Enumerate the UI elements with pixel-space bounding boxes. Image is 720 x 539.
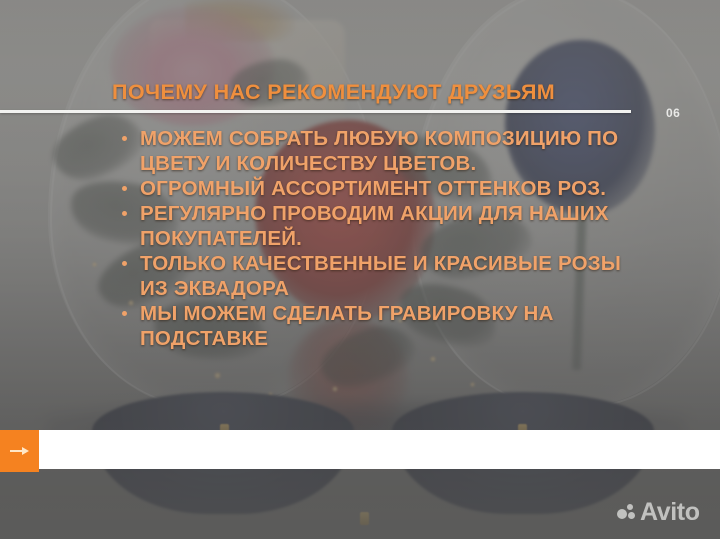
presentation-slide: ПОЧЕМУ НАС РЕКОМЕНДУЮТ ДРУЗЬЯМ 06 МОЖЕМ … — [0, 0, 720, 539]
next-slide-button[interactable] — [0, 430, 39, 472]
benefits-list: МОЖЕМ СОБРАТЬ ЛЮБУЮ КОМПОЗИЦИЮ ПО ЦВЕТУ … — [116, 126, 622, 351]
list-item: МЫ МОЖЕМ СДЕЛАТЬ ГРАВИРОВКУ НА ПОДСТАВКЕ — [116, 301, 622, 351]
list-item: РЕГУЛЯРНО ПРОВОДИМ АКЦИИ ДЛЯ НАШИХ ПОКУП… — [116, 201, 622, 251]
list-item: ОГРОМНЫЙ АССОРТИМЕНТ ОТТЕНКОВ РОЗ. — [116, 176, 622, 201]
list-item: ТОЛЬКО КАЧЕСТВЕННЫЕ И КРАСИВЫЕ РОЗЫ ИЗ Э… — [116, 251, 622, 301]
bottom-white-bar — [38, 430, 720, 469]
list-item: МОЖЕМ СОБРАТЬ ЛЮБУЮ КОМПОЗИЦИЮ ПО ЦВЕТУ … — [116, 126, 622, 176]
avito-watermark: Avito — [617, 500, 700, 525]
page-number: 06 — [666, 106, 680, 120]
slide-content: ПОЧЕМУ НАС РЕКОМЕНДУЮТ ДРУЗЬЯМ 06 МОЖЕМ … — [0, 0, 720, 539]
arrow-right-icon — [10, 446, 30, 456]
page-title: ПОЧЕМУ НАС РЕКОМЕНДУЮТ ДРУЗЬЯМ — [112, 80, 555, 105]
avito-wordmark: Avito — [640, 500, 700, 525]
avito-dots-icon — [617, 503, 636, 522]
title-divider — [0, 110, 631, 113]
